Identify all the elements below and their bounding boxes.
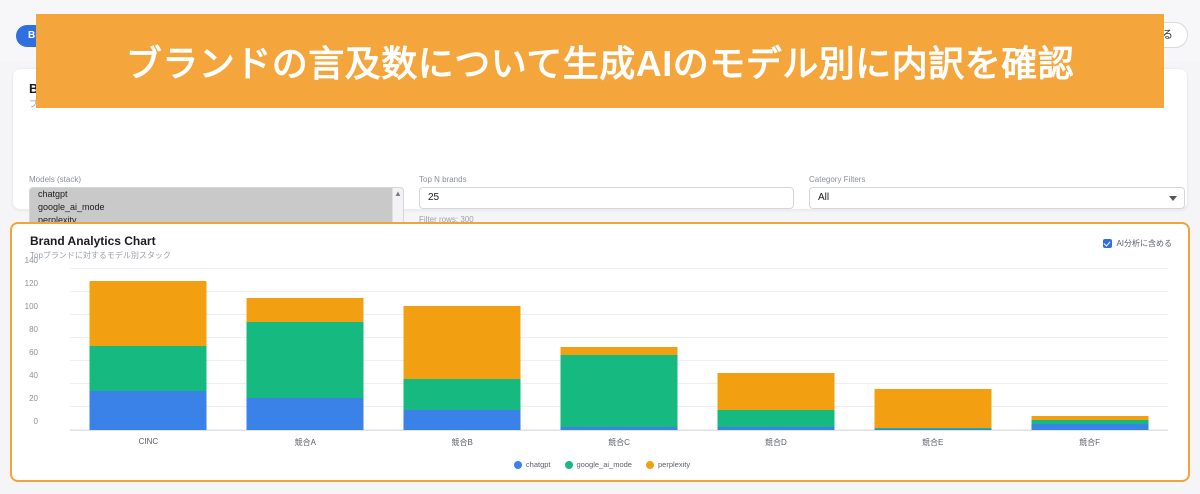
bar-group[interactable]: 競合F: [1011, 269, 1168, 430]
x-axis-tick-label: 競合A: [227, 437, 384, 448]
stacked-bar[interactable]: [874, 389, 991, 430]
bar-group[interactable]: 競合E: [854, 269, 1011, 430]
bar-segment-chatgpt[interactable]: [90, 391, 207, 430]
stacked-bar[interactable]: [90, 281, 207, 430]
stacked-bar[interactable]: [1031, 416, 1148, 430]
bar-segment-google_ai_mode[interactable]: [90, 346, 207, 391]
y-axis-tick-label: 100: [0, 302, 38, 311]
y-axis-tick-label: 20: [0, 394, 38, 403]
bar-segment-google_ai_mode[interactable]: [247, 322, 364, 398]
y-axis-tick-label: 120: [0, 279, 38, 288]
x-axis-tick-label: 競合F: [1011, 437, 1168, 448]
bar-group[interactable]: 競合D: [697, 269, 854, 430]
x-axis-tick-label: 競合D: [697, 437, 854, 448]
legend-color-swatch: [514, 461, 522, 469]
y-axis-tick-label: 140: [0, 256, 38, 265]
bar-segment-chatgpt[interactable]: [404, 410, 521, 430]
chart-plot-area: 020406080100120140 CINC競合A競合B競合C競合D競合E競合…: [12, 260, 1192, 484]
category-filter-value: All: [818, 192, 829, 203]
x-axis-tick-label: 競合C: [541, 437, 698, 448]
models-option[interactable]: chatgpt: [30, 188, 403, 201]
bar-group[interactable]: 競合C: [541, 269, 698, 430]
top-n-label: Top N brands: [419, 175, 794, 184]
annotation-banner: ブランドの言及数について生成AIのモデル別に内訳を確認: [36, 14, 1164, 108]
chart-title: Brand Analytics Chart: [30, 234, 156, 248]
legend-item[interactable]: chatgpt: [514, 460, 551, 469]
bar-segment-perplexity[interactable]: [874, 389, 991, 428]
models-label: Models (stack): [29, 175, 404, 184]
y-axis-tick-label: 40: [0, 371, 38, 380]
bar-segment-google_ai_mode[interactable]: [717, 410, 834, 426]
category-filter-select[interactable]: All: [809, 187, 1185, 209]
ai-analysis-toggle-label: AI分析に含める: [1116, 238, 1172, 249]
category-filter-label: Category Filters: [809, 175, 1185, 184]
legend-label: chatgpt: [526, 460, 551, 469]
app-root: Bra 戻る Brand ブラ Models (stack) chatgpt g…: [0, 0, 1200, 494]
x-axis-tick-label: CINC: [70, 437, 227, 446]
legend-item[interactable]: perplexity: [646, 460, 690, 469]
ai-analysis-toggle[interactable]: AI分析に含める: [1103, 238, 1172, 249]
legend-item[interactable]: google_ai_mode: [565, 460, 632, 469]
scroll-up-icon[interactable]: ▲: [394, 190, 402, 198]
chart-legend: chatgptgoogle_ai_modeperplexity: [12, 460, 1192, 469]
bar-segment-perplexity[interactable]: [561, 347, 678, 355]
legend-label: google_ai_mode: [577, 460, 632, 469]
bar-segment-perplexity[interactable]: [404, 306, 521, 380]
stacked-bar[interactable]: [404, 306, 521, 430]
checkbox-checked-icon[interactable]: [1103, 239, 1112, 248]
x-axis-tick-label: 競合B: [384, 437, 541, 448]
legend-label: perplexity: [658, 460, 690, 469]
bar-segment-perplexity[interactable]: [717, 373, 834, 411]
bar-segment-google_ai_mode[interactable]: [404, 379, 521, 410]
legend-color-swatch: [565, 461, 573, 469]
x-axis-tick-label: 競合E: [854, 437, 1011, 448]
models-option[interactable]: google_ai_mode: [30, 201, 403, 214]
chart-bars: CINC競合A競合B競合C競合D競合E競合F: [70, 269, 1168, 430]
y-axis-tick-label: 0: [0, 417, 38, 426]
bar-group[interactable]: CINC: [70, 269, 227, 430]
y-axis-tick-label: 60: [0, 348, 38, 357]
stacked-bar[interactable]: [717, 373, 834, 430]
annotation-banner-text: ブランドの言及数について生成AIのモデル別に内訳を確認: [126, 35, 1074, 87]
stacked-bar[interactable]: [247, 298, 364, 430]
top-n-field: Top N brands 25 Filter rows: 300: [419, 175, 794, 224]
stacked-bar[interactable]: [561, 347, 678, 430]
bar-segment-perplexity[interactable]: [90, 281, 207, 347]
bar-segment-google_ai_mode[interactable]: [561, 355, 678, 426]
chart-panel: Brand Analytics Chart Topブランドに対するモデル別スタッ…: [10, 222, 1190, 482]
chart-x-axis: [70, 430, 1168, 431]
category-filter-field: Category Filters All: [809, 175, 1185, 209]
bar-group[interactable]: 競合A: [227, 269, 384, 430]
bar-segment-perplexity[interactable]: [247, 298, 364, 322]
y-axis-tick-label: 80: [0, 325, 38, 334]
chevron-down-icon[interactable]: [1169, 196, 1177, 201]
top-n-input[interactable]: 25: [419, 187, 794, 209]
bar-group[interactable]: 競合B: [384, 269, 541, 430]
bar-segment-chatgpt[interactable]: [247, 398, 364, 430]
legend-color-swatch: [646, 461, 654, 469]
